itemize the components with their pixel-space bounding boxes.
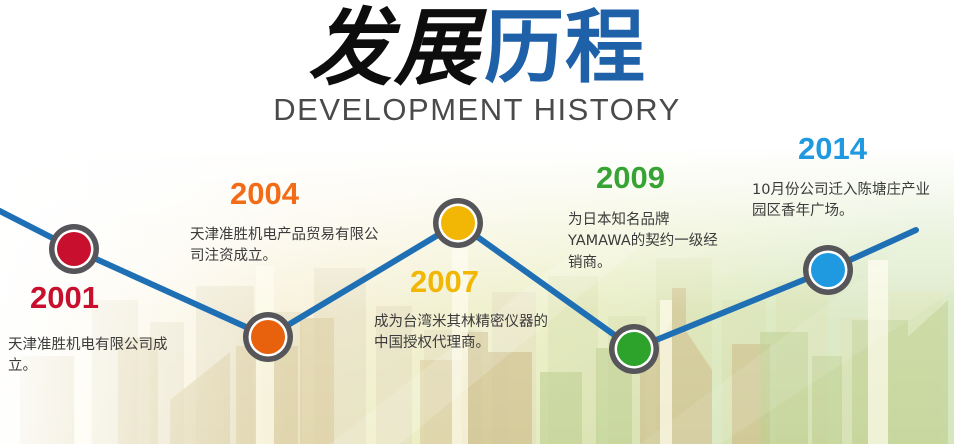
milestone-year-2007: 2007 <box>410 266 554 297</box>
timeline-node-2009[interactable] <box>609 324 659 374</box>
milestone-year-2009: 2009 <box>596 162 728 193</box>
milestone-2004: 2004 天津准胜机电产品贸易有限公司注资成立。 <box>190 178 380 268</box>
milestone-year-2014: 2014 <box>798 133 932 164</box>
milestone-desc-2001: 天津准胜机电有限公司成立。 <box>8 335 178 378</box>
title-cn-dark: 发展 <box>308 0 480 97</box>
milestone-2007: 2007 成为台湾米其林精密仪器的中国授权代理商。 <box>374 266 554 355</box>
milestone-year-2004: 2004 <box>230 178 380 209</box>
timeline-node-2014[interactable] <box>803 245 853 295</box>
milestone-desc-2004: 天津准胜机电产品贸易有限公司注资成立。 <box>190 225 380 268</box>
title-subtitle: DEVELOPMENT HISTORY <box>0 92 954 128</box>
milestone-2001: 2001 天津准胜机电有限公司成立。 <box>8 282 178 378</box>
title-main: 发展历程 <box>308 6 646 90</box>
timeline-node-2004[interactable] <box>243 312 293 362</box>
milestone-desc-2007: 成为台湾米其林精密仪器的中国授权代理商。 <box>374 312 554 355</box>
title-cn-blue: 历程 <box>484 1 646 94</box>
milestone-desc-2009: 为日本知名品牌YAMAWA的契约一级经销商。 <box>568 210 728 274</box>
page-title: 发展历程 DEVELOPMENT HISTORY <box>0 6 954 128</box>
timeline-node-2001[interactable] <box>49 224 99 274</box>
milestone-year-2001: 2001 <box>30 282 178 313</box>
milestone-2014: 2014 10月份公司迁入陈塘庄产业园区香年广场。 <box>752 133 932 223</box>
infographic-canvas: 发展历程 DEVELOPMENT HISTORY <box>0 0 954 444</box>
timeline-node-2007[interactable] <box>433 198 483 248</box>
milestone-2009: 2009 为日本知名品牌YAMAWA的契约一级经销商。 <box>568 162 728 274</box>
milestone-desc-2014: 10月份公司迁入陈塘庄产业园区香年广场。 <box>752 180 932 223</box>
